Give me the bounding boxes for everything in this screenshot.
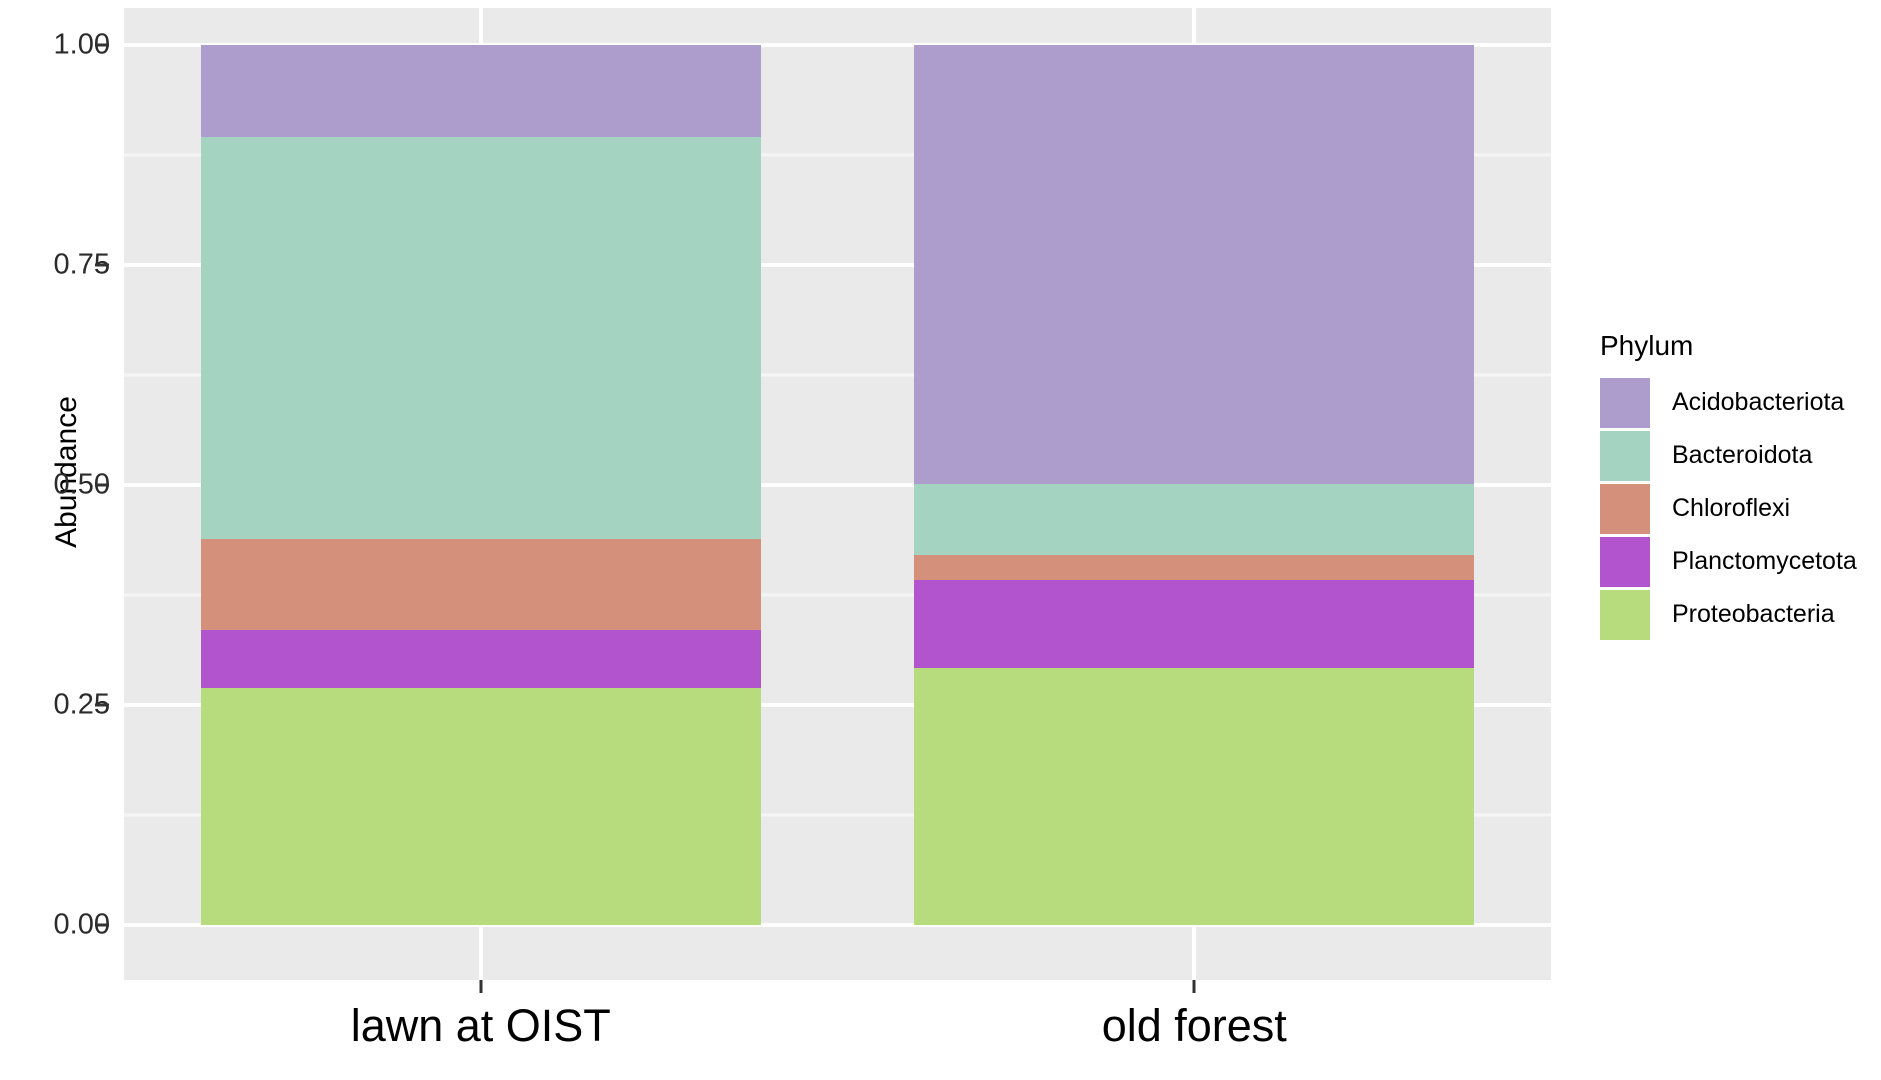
legend-swatch-fill bbox=[1600, 431, 1650, 481]
bar-segment[interactable] bbox=[914, 580, 1474, 668]
bar-segment[interactable] bbox=[914, 45, 1474, 484]
bar-segment[interactable] bbox=[914, 484, 1474, 555]
bar-stack[interactable] bbox=[201, 45, 761, 925]
legend-color-swatch bbox=[1600, 590, 1650, 640]
legend-swatch-fill bbox=[1600, 484, 1650, 534]
bar-segment[interactable] bbox=[201, 45, 761, 137]
y-axis-tick-mark bbox=[95, 484, 109, 487]
legend: Phylum AcidobacteriotaBacteroidotaChloro… bbox=[1600, 330, 1870, 641]
bar-segment[interactable] bbox=[914, 668, 1474, 925]
x-axis-tick-mark bbox=[479, 980, 482, 993]
bar-stack[interactable] bbox=[914, 45, 1474, 925]
plot-panel bbox=[124, 8, 1551, 980]
y-axis-tick-mark bbox=[95, 264, 109, 267]
x-axis-tick-label: lawn at OIST bbox=[221, 1000, 741, 1052]
bar-segment[interactable] bbox=[201, 688, 761, 925]
chart-figure: Abundance 0.000.250.500.751.00 lawn at O… bbox=[0, 0, 1881, 1080]
legend-item-label: Proteobacteria bbox=[1672, 600, 1835, 629]
legend-swatch-fill bbox=[1600, 378, 1650, 428]
legend-item-label: Bacteroidota bbox=[1672, 441, 1812, 470]
y-axis-tick-label: 0.75 bbox=[0, 249, 110, 282]
legend-title: Phylum bbox=[1600, 330, 1870, 362]
y-axis-tick-label: 1.00 bbox=[0, 29, 110, 62]
legend-item[interactable]: Chloroflexi bbox=[1600, 482, 1870, 535]
legend-items: AcidobacteriotaBacteroidotaChloroflexiPl… bbox=[1600, 376, 1870, 641]
legend-item-label: Planctomycetota bbox=[1672, 547, 1857, 576]
legend-swatch-fill bbox=[1600, 537, 1650, 587]
legend-color-swatch bbox=[1600, 431, 1650, 481]
x-axis-tick-label: old forest bbox=[934, 1000, 1454, 1052]
y-axis-tick-label: 0.25 bbox=[0, 689, 110, 722]
legend-color-swatch bbox=[1600, 484, 1650, 534]
legend-swatch-fill bbox=[1600, 590, 1650, 640]
legend-color-swatch bbox=[1600, 378, 1650, 428]
legend-item-label: Acidobacteriota bbox=[1672, 388, 1844, 417]
y-axis-tick-label: 0.50 bbox=[0, 469, 110, 502]
legend-item[interactable]: Proteobacteria bbox=[1600, 588, 1870, 641]
x-axis-tick-mark bbox=[1193, 980, 1196, 993]
legend-item[interactable]: Bacteroidota bbox=[1600, 429, 1870, 482]
bar-segment[interactable] bbox=[201, 539, 761, 631]
legend-item[interactable]: Planctomycetota bbox=[1600, 535, 1870, 588]
bar-segment[interactable] bbox=[201, 630, 761, 688]
bar-segment[interactable] bbox=[201, 137, 761, 538]
legend-item-label: Chloroflexi bbox=[1672, 494, 1790, 523]
y-axis-tick-label: 0.00 bbox=[0, 909, 110, 942]
y-axis-tick-mark bbox=[95, 44, 109, 47]
y-axis-tick-mark bbox=[95, 924, 109, 927]
y-axis-tick-mark bbox=[95, 704, 109, 707]
bar-segment[interactable] bbox=[914, 555, 1474, 580]
legend-color-swatch bbox=[1600, 537, 1650, 587]
y-axis-tick-labels: 0.000.250.500.751.00 bbox=[0, 0, 110, 1080]
legend-item[interactable]: Acidobacteriota bbox=[1600, 376, 1870, 429]
